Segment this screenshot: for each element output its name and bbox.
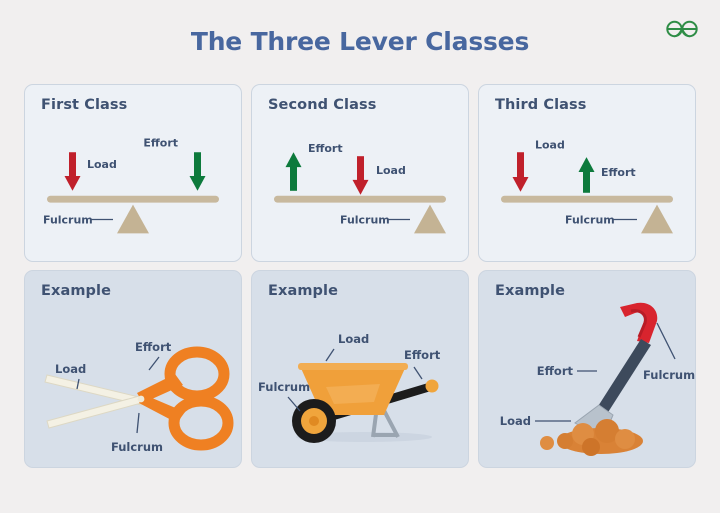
scissors-lower-handle — [174, 401, 228, 445]
fulcrum-label: Fulcrum — [565, 213, 615, 226]
load-arrow-down — [65, 152, 81, 191]
second-class-lever-diagram: Effort Load Fulcrum — [252, 85, 468, 261]
lever-beam — [274, 196, 446, 203]
effort-arrow-up — [286, 152, 302, 191]
fulcrum-triangle — [414, 205, 446, 234]
effort-leader-line — [149, 357, 159, 370]
effort-label: Effort — [537, 364, 574, 378]
load-label: Load — [338, 332, 369, 346]
load-label: Load — [535, 138, 565, 151]
first-class-diagram-panel: First Class — [24, 84, 242, 262]
fulcrum-leader-line — [137, 413, 139, 433]
load-label: Load — [500, 414, 531, 428]
effort-label: Effort — [601, 166, 636, 179]
fulcrum-triangle — [117, 205, 149, 234]
effort-label: Effort — [135, 340, 172, 354]
fulcrum-label: Fulcrum — [340, 213, 390, 226]
lever-beam — [47, 196, 219, 203]
effort-arrow-down — [190, 152, 206, 191]
effort-leader-line — [414, 367, 422, 379]
first-class-lever-diagram: Load Effort Fulcrum — [25, 85, 241, 261]
lever-beam — [501, 196, 673, 203]
column-third-class: Third Class — [478, 84, 696, 468]
fulcrum-label: Fulcrum — [43, 213, 93, 226]
third-class-example-panel: Example — [478, 270, 696, 468]
fulcrum-label: Fulcrum — [258, 380, 310, 394]
wheelbarrow-illustration: Load Effort Fulcrum — [252, 271, 468, 467]
third-class-lever-diagram: Load Effort Fulcrum — [479, 85, 695, 261]
fulcrum-label: Fulcrum — [643, 368, 695, 382]
wheelbarrow-icon — [292, 363, 439, 443]
infographic-page: The Three Lever Classes First Class — [0, 0, 720, 513]
effort-label: Effort — [143, 136, 178, 149]
geeksforgeeks-logo-icon — [662, 16, 702, 42]
fulcrum-leader-line — [288, 397, 300, 411]
load-label: Load — [376, 164, 406, 177]
third-class-diagram-panel: Third Class — [478, 84, 696, 262]
fulcrum-label: Fulcrum — [111, 440, 163, 454]
load-arrow-down — [513, 152, 529, 192]
fulcrum-triangle — [641, 205, 673, 234]
lever-class-columns: First Class — [24, 84, 696, 468]
shovel-icon — [540, 303, 657, 456]
wheelbarrow-grip — [426, 380, 439, 393]
column-second-class: Second Class — [251, 84, 469, 468]
header: The Three Lever Classes — [0, 0, 720, 78]
effort-label: Effort — [308, 142, 343, 155]
load-arrow-down — [353, 156, 369, 195]
effort-arrow-up — [579, 157, 595, 193]
second-class-example-panel: Example — [251, 270, 469, 468]
shovel-illustration: Effort Fulcrum Load — [479, 271, 695, 467]
scissors-upper-handle — [170, 352, 224, 396]
column-first-class: First Class — [24, 84, 242, 468]
effort-label: Effort — [404, 348, 441, 362]
scissors-pivot — [138, 396, 145, 403]
page-title: The Three Lever Classes — [0, 27, 720, 56]
second-class-diagram-panel: Second Class — [251, 84, 469, 262]
load-leader-line — [326, 349, 334, 361]
load-label: Load — [55, 362, 86, 376]
load-label: Load — [87, 158, 117, 171]
first-class-example-panel: Example — [24, 270, 242, 468]
scissors-illustration: Effort Load Fulcrum — [25, 271, 241, 467]
fulcrum-leader-line — [657, 323, 675, 359]
shovel-d-handle — [620, 303, 657, 343]
